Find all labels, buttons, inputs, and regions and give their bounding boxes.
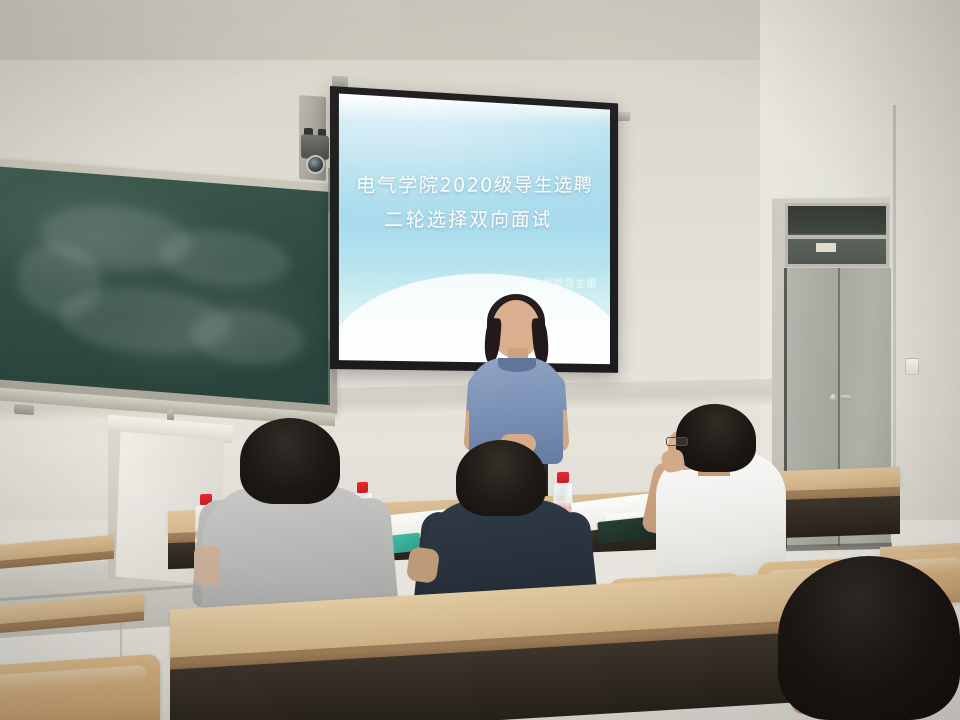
slide-title-line-2: 二轮选择双向面试: [383, 204, 600, 233]
door-handle-icon[interactable]: [840, 395, 851, 400]
chair-highlight: [0, 665, 146, 694]
attendee-1-arm: [194, 546, 220, 586]
chair-back[interactable]: [0, 654, 160, 720]
transom-mullion: [785, 235, 889, 239]
attendee-2-hair: [456, 440, 546, 516]
chalk-smudge: [191, 305, 303, 369]
camera-lens-icon: [306, 155, 325, 174]
slide-surface: 电气学院2020级导生选聘 二轮选择双向面试 电气学院导生部 2020.09.0…: [339, 94, 610, 365]
attendee-2-arm: [406, 546, 440, 584]
attendee-1-hair: [240, 418, 340, 504]
slide-subtitle-line-1: 电气学院导生部: [520, 276, 598, 292]
classroom-photo: 电气学院2020级导生选聘 二轮选择双向面试 电气学院导生部 2020.09.0…: [0, 0, 960, 720]
bottle-cap: [357, 482, 369, 493]
attendee-4-hair: [778, 556, 960, 720]
glasses-icon: [666, 437, 688, 446]
attendee-3-hair: [676, 404, 756, 472]
presenter-collar: [498, 358, 536, 372]
chalk-smudge: [158, 226, 290, 292]
door-knob-icon[interactable]: [830, 394, 837, 401]
blackboard-surface: [0, 167, 330, 405]
transom-sign: [816, 243, 836, 252]
bottle-cap: [557, 472, 568, 483]
projection-screen: 电气学院2020级导生选聘 二轮选择双向面试 电气学院导生部 2020.09.0…: [330, 86, 618, 373]
slide-title-line-1: 电气学院2020级导生选聘: [355, 170, 602, 199]
blackboard: [0, 158, 337, 415]
light-switch[interactable]: [905, 358, 919, 375]
blackboard-bracket: [14, 404, 34, 416]
